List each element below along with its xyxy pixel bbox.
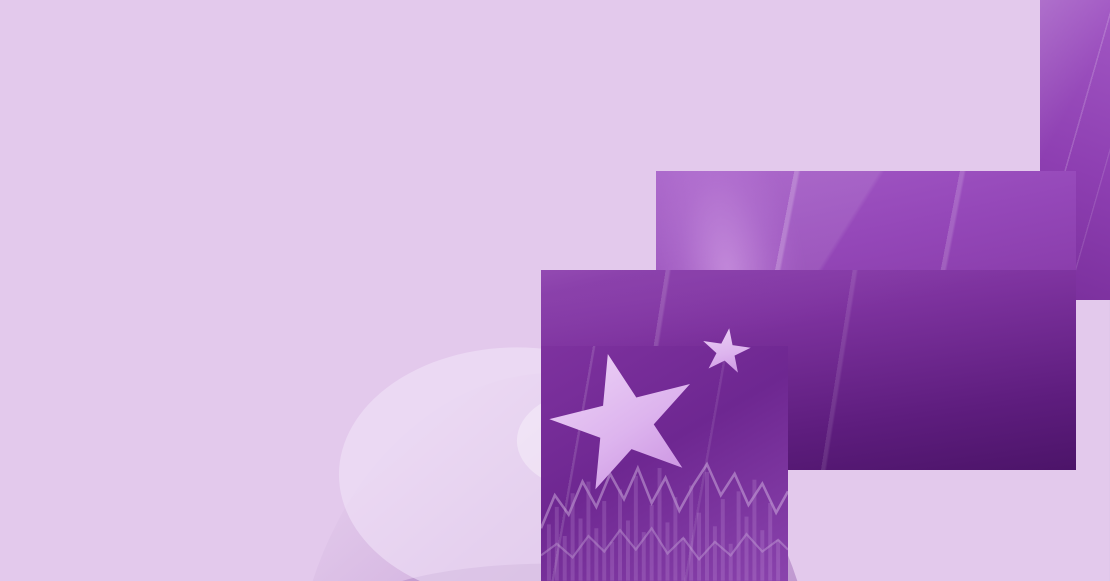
cover-canvas: หุ้นจีนช่วยดึงผลงาน ในช่วงเวลาที่ยากลำบา… bbox=[0, 0, 1110, 581]
portrait-frame bbox=[0, 0, 1110, 581]
andrew-stotz-portrait bbox=[0, 0, 1110, 581]
